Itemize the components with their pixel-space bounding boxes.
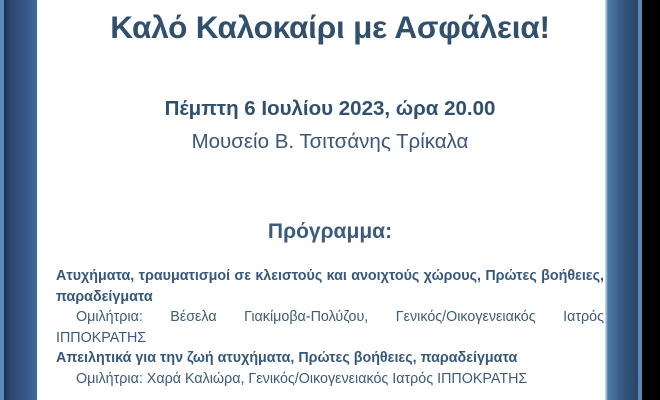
presentation-slide: Καλό Καλοκαίρι με Ασφάλεια! Πέμπτη 6 Ιου…: [0, 0, 660, 400]
program-topic: Απειλητικά για την ζωή ατυχήματα, Πρώτες…: [56, 348, 604, 369]
program-topic: Ατυχήματα, τραυματισμοί σε κλειστούς και…: [56, 266, 604, 307]
event-venue: Μουσείο Β. Τσιτσάνης Τρίκαλα: [46, 130, 614, 154]
slide-content: Καλό Καλοκαίρι με Ασφάλεια! Πέμπτη 6 Ιου…: [46, 0, 614, 400]
program-speaker: Ομιλήτρια: Χαρά Καλιώρα, Γενικός/Οικογεν…: [56, 369, 604, 390]
program-list: Ατυχήματα, τραυματισμοί σε κλειστούς και…: [56, 266, 604, 390]
event-date-time: Πέμπτη 6 Ιουλίου 2023, ώρα 20.00: [46, 97, 614, 121]
left-decorative-bar: [4, 0, 37, 400]
right-outer-edge: [642, 0, 660, 400]
slide-title: Καλό Καλοκαίρι με Ασφάλεια!: [46, 9, 614, 46]
program-heading: Πρόγραμμα:: [46, 220, 614, 244]
program-speaker: Ομιλήτρια: Βέσελα Γιακίμοβα-Πολύζου, Γεν…: [56, 307, 604, 348]
